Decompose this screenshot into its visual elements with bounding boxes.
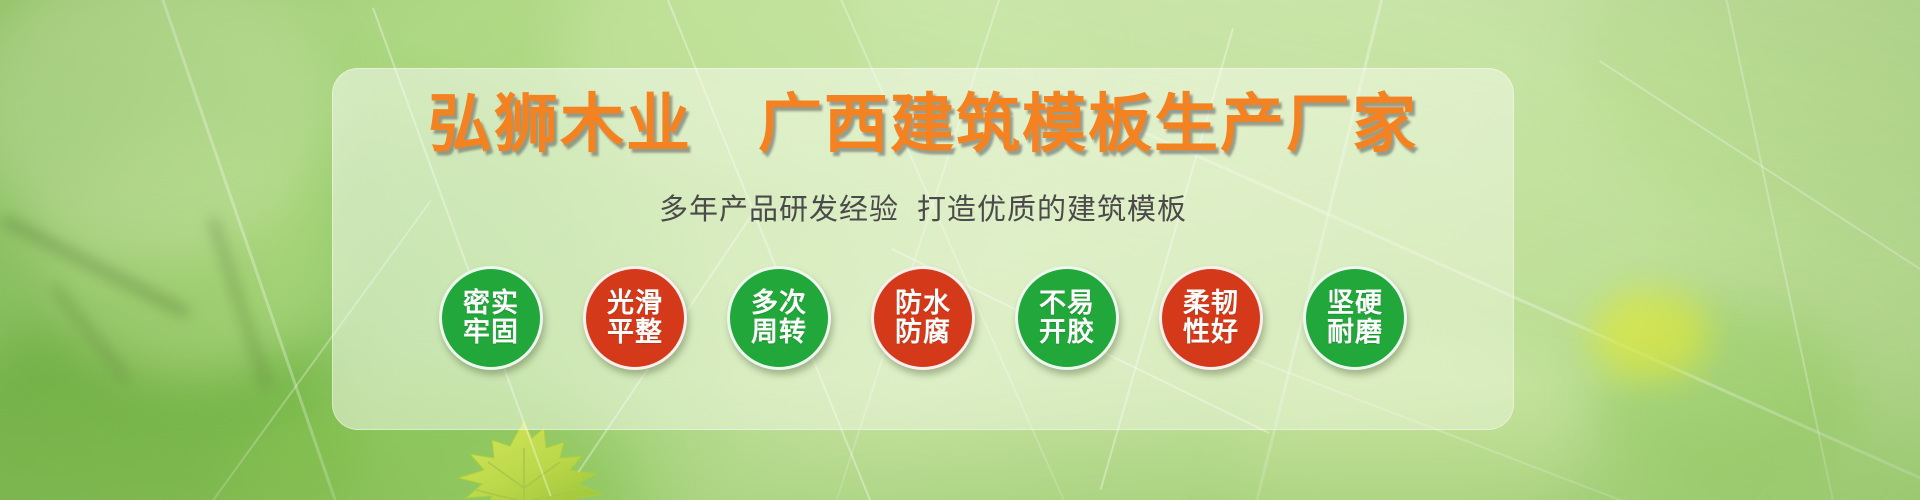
feature-badge[interactable]: 密实牢固	[439, 266, 543, 370]
content-panel: 弘狮木业 广西建筑模板生产厂家 多年产品研发经验 打造优质的建筑模板 密实牢固光…	[332, 68, 1514, 430]
feature-badge[interactable]: 柔韧性好	[1159, 266, 1263, 370]
feature-badge-line2: 耐磨	[1327, 318, 1383, 347]
feature-badge-list: 密实牢固光滑平整多次周转防水防腐不易开胶柔韧性好坚硬耐磨	[332, 266, 1514, 370]
feature-badge-line2: 牢固	[463, 318, 519, 347]
maple-leaf-icon	[440, 418, 630, 500]
feature-badge-line2: 周转	[751, 318, 807, 347]
feature-badge[interactable]: 不易开胶	[1015, 266, 1119, 370]
feature-badge-line1: 密实	[463, 289, 519, 318]
feature-badge-line1: 多次	[751, 289, 807, 318]
banner-subtitle: 多年产品研发经验 打造优质的建筑模板	[332, 196, 1514, 225]
feature-badge[interactable]: 坚硬耐磨	[1303, 266, 1407, 370]
feature-badge-line1: 柔韧	[1183, 289, 1239, 318]
feature-badge-line2: 平整	[607, 318, 663, 347]
feature-badge-line1: 坚硬	[1327, 289, 1383, 318]
feature-badge-line2: 开胶	[1039, 318, 1095, 347]
feature-badge[interactable]: 多次周转	[727, 266, 831, 370]
promotional-banner: 弘狮木业 广西建筑模板生产厂家 多年产品研发经验 打造优质的建筑模板 密实牢固光…	[0, 0, 1920, 500]
feature-badge[interactable]: 防水防腐	[871, 266, 975, 370]
feature-badge-line1: 光滑	[607, 289, 663, 318]
feature-badge-line2: 性好	[1183, 318, 1239, 347]
banner-headline: 弘狮木业 广西建筑模板生产厂家	[332, 92, 1514, 156]
feature-badge-line1: 不易	[1039, 289, 1095, 318]
feature-badge-line2: 防腐	[895, 318, 951, 347]
feature-badge[interactable]: 光滑平整	[583, 266, 687, 370]
feature-badge-line1: 防水	[895, 289, 951, 318]
